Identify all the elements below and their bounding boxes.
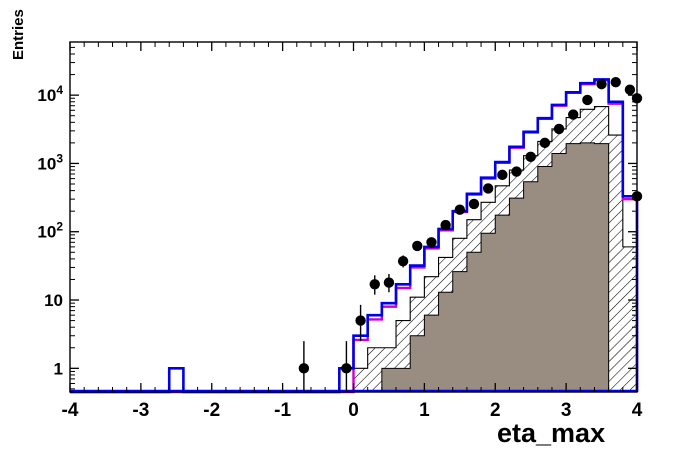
x-tick-label: 1 [419, 400, 430, 421]
x-tick-label: 0 [348, 400, 359, 421]
x-tick-label: -2 [203, 400, 220, 421]
data-point [554, 124, 564, 134]
plot-canvas: -4-3-2-101234110102103104 Entries eta_ma… [0, 0, 696, 472]
data-point [568, 109, 578, 119]
data-point [525, 152, 535, 162]
data-point [596, 79, 606, 89]
x-tick-label: -3 [132, 400, 149, 421]
data-point [426, 237, 436, 247]
data-point [582, 95, 592, 105]
data-point [497, 170, 507, 180]
y-tick-label: 1 [54, 359, 63, 378]
y-tick-label: 102 [37, 220, 63, 242]
data-point [611, 77, 621, 87]
data-point [370, 275, 380, 294]
data-point [398, 255, 408, 267]
x-tick-label: 4 [632, 400, 643, 421]
data-point [455, 205, 465, 215]
data-point [341, 341, 351, 392]
data-point [440, 220, 450, 230]
data-point [511, 166, 521, 176]
y-tick-label: 10 [44, 291, 63, 310]
data-point [299, 341, 309, 392]
histogram-figure: -4-3-2-101234110102103104 [0, 0, 696, 472]
data-point [384, 274, 394, 292]
y-axis-title: Entries [10, 9, 27, 60]
x-axis-title: eta_max [497, 418, 605, 448]
y-tick-label: 103 [37, 151, 63, 173]
data-point [625, 85, 635, 95]
data-point [412, 241, 422, 251]
data-point [540, 138, 550, 148]
y-tick-label: 104 [37, 83, 63, 105]
data-point [469, 199, 479, 209]
x-tick-label: -4 [62, 400, 79, 421]
x-tick-label: -1 [274, 400, 291, 421]
data-point [483, 183, 493, 193]
